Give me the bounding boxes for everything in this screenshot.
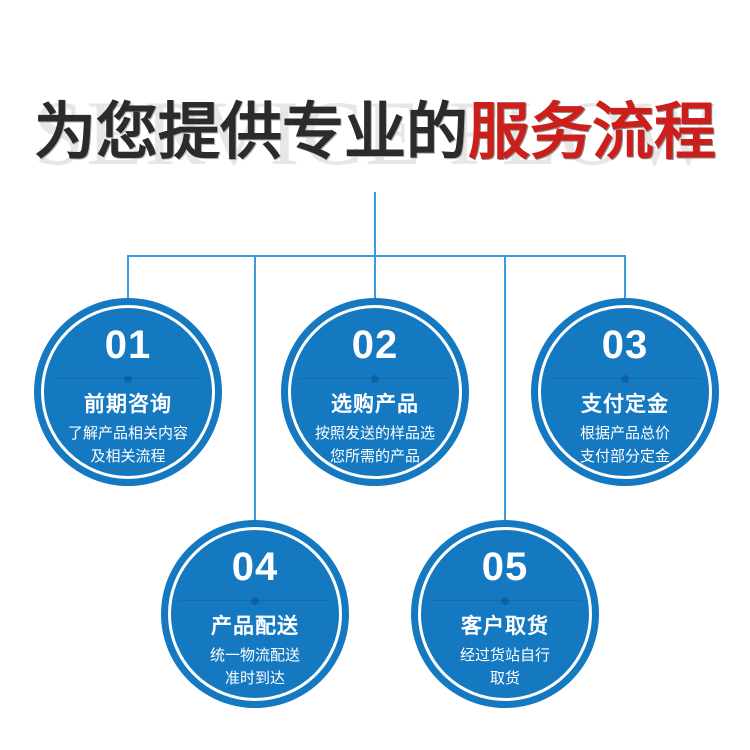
step-node-4[interactable]: 04 产品配送 统一物流配送 准时到达 (161, 520, 349, 708)
step-description: 按照发送的样品选 您所需的产品 (289, 422, 461, 468)
step-node-5[interactable]: 05 客户取货 经过货站自行 取货 (411, 520, 599, 708)
step-number: 01 (34, 322, 222, 368)
step-description-line-2: 取货 (419, 667, 591, 690)
step-description: 统一物流配送 准时到达 (169, 644, 341, 690)
connector-drop-step-2 (374, 255, 376, 303)
connector-trunk (374, 192, 376, 256)
step-description-line-1: 按照发送的样品选 (289, 422, 461, 445)
service-flow-infographic: SERVICE FLOW 为您提供专业的服务流程 01 前期咨询 了解产品相关内… (0, 0, 750, 750)
step-divider (179, 600, 331, 601)
connector-drop-step-1 (127, 255, 129, 303)
step-divider (299, 378, 451, 379)
connector-drop-step-3 (624, 255, 626, 303)
step-number: 04 (161, 544, 349, 590)
page-header: SERVICE FLOW 为您提供专业的服务流程 (0, 78, 750, 188)
step-divider (429, 600, 581, 601)
step-description-line-1: 统一物流配送 (169, 644, 341, 667)
step-title: 前期咨询 (34, 390, 222, 420)
step-description-line-1: 了解产品相关内容 (42, 422, 214, 445)
step-number: 03 (531, 322, 719, 368)
step-description-line-1: 经过货站自行 (419, 644, 591, 667)
step-description-line-2: 准时到达 (169, 667, 341, 690)
step-number: 02 (281, 322, 469, 368)
step-node-2[interactable]: 02 选购产品 按照发送的样品选 您所需的产品 (281, 298, 469, 486)
step-description: 经过货站自行 取货 (419, 644, 591, 690)
connector-drop-step-4 (254, 255, 256, 525)
step-number: 05 (411, 544, 599, 590)
step-description-line-2: 您所需的产品 (289, 445, 461, 468)
page-title: 为您提供专业的服务流程 (0, 90, 750, 176)
step-node-1[interactable]: 01 前期咨询 了解产品相关内容 及相关流程 (34, 298, 222, 486)
step-divider (52, 378, 204, 379)
step-description-line-2: 支付部分定金 (539, 445, 711, 468)
page-title-primary: 为您提供专业的 (34, 98, 468, 167)
step-description: 了解产品相关内容 及相关流程 (42, 422, 214, 468)
connector-drop-step-5 (504, 255, 506, 525)
step-node-3[interactable]: 03 支付定金 根据产品总价 支付部分定金 (531, 298, 719, 486)
step-title: 客户取货 (411, 612, 599, 642)
step-description-line-1: 根据产品总价 (539, 422, 711, 445)
connector-bar (127, 255, 626, 257)
page-title-accent: 服务流程 (468, 98, 716, 167)
step-title: 支付定金 (531, 390, 719, 420)
step-description-line-2: 及相关流程 (42, 445, 214, 468)
step-title: 产品配送 (161, 612, 349, 642)
step-divider (549, 378, 701, 379)
step-title: 选购产品 (281, 390, 469, 420)
step-description: 根据产品总价 支付部分定金 (539, 422, 711, 468)
